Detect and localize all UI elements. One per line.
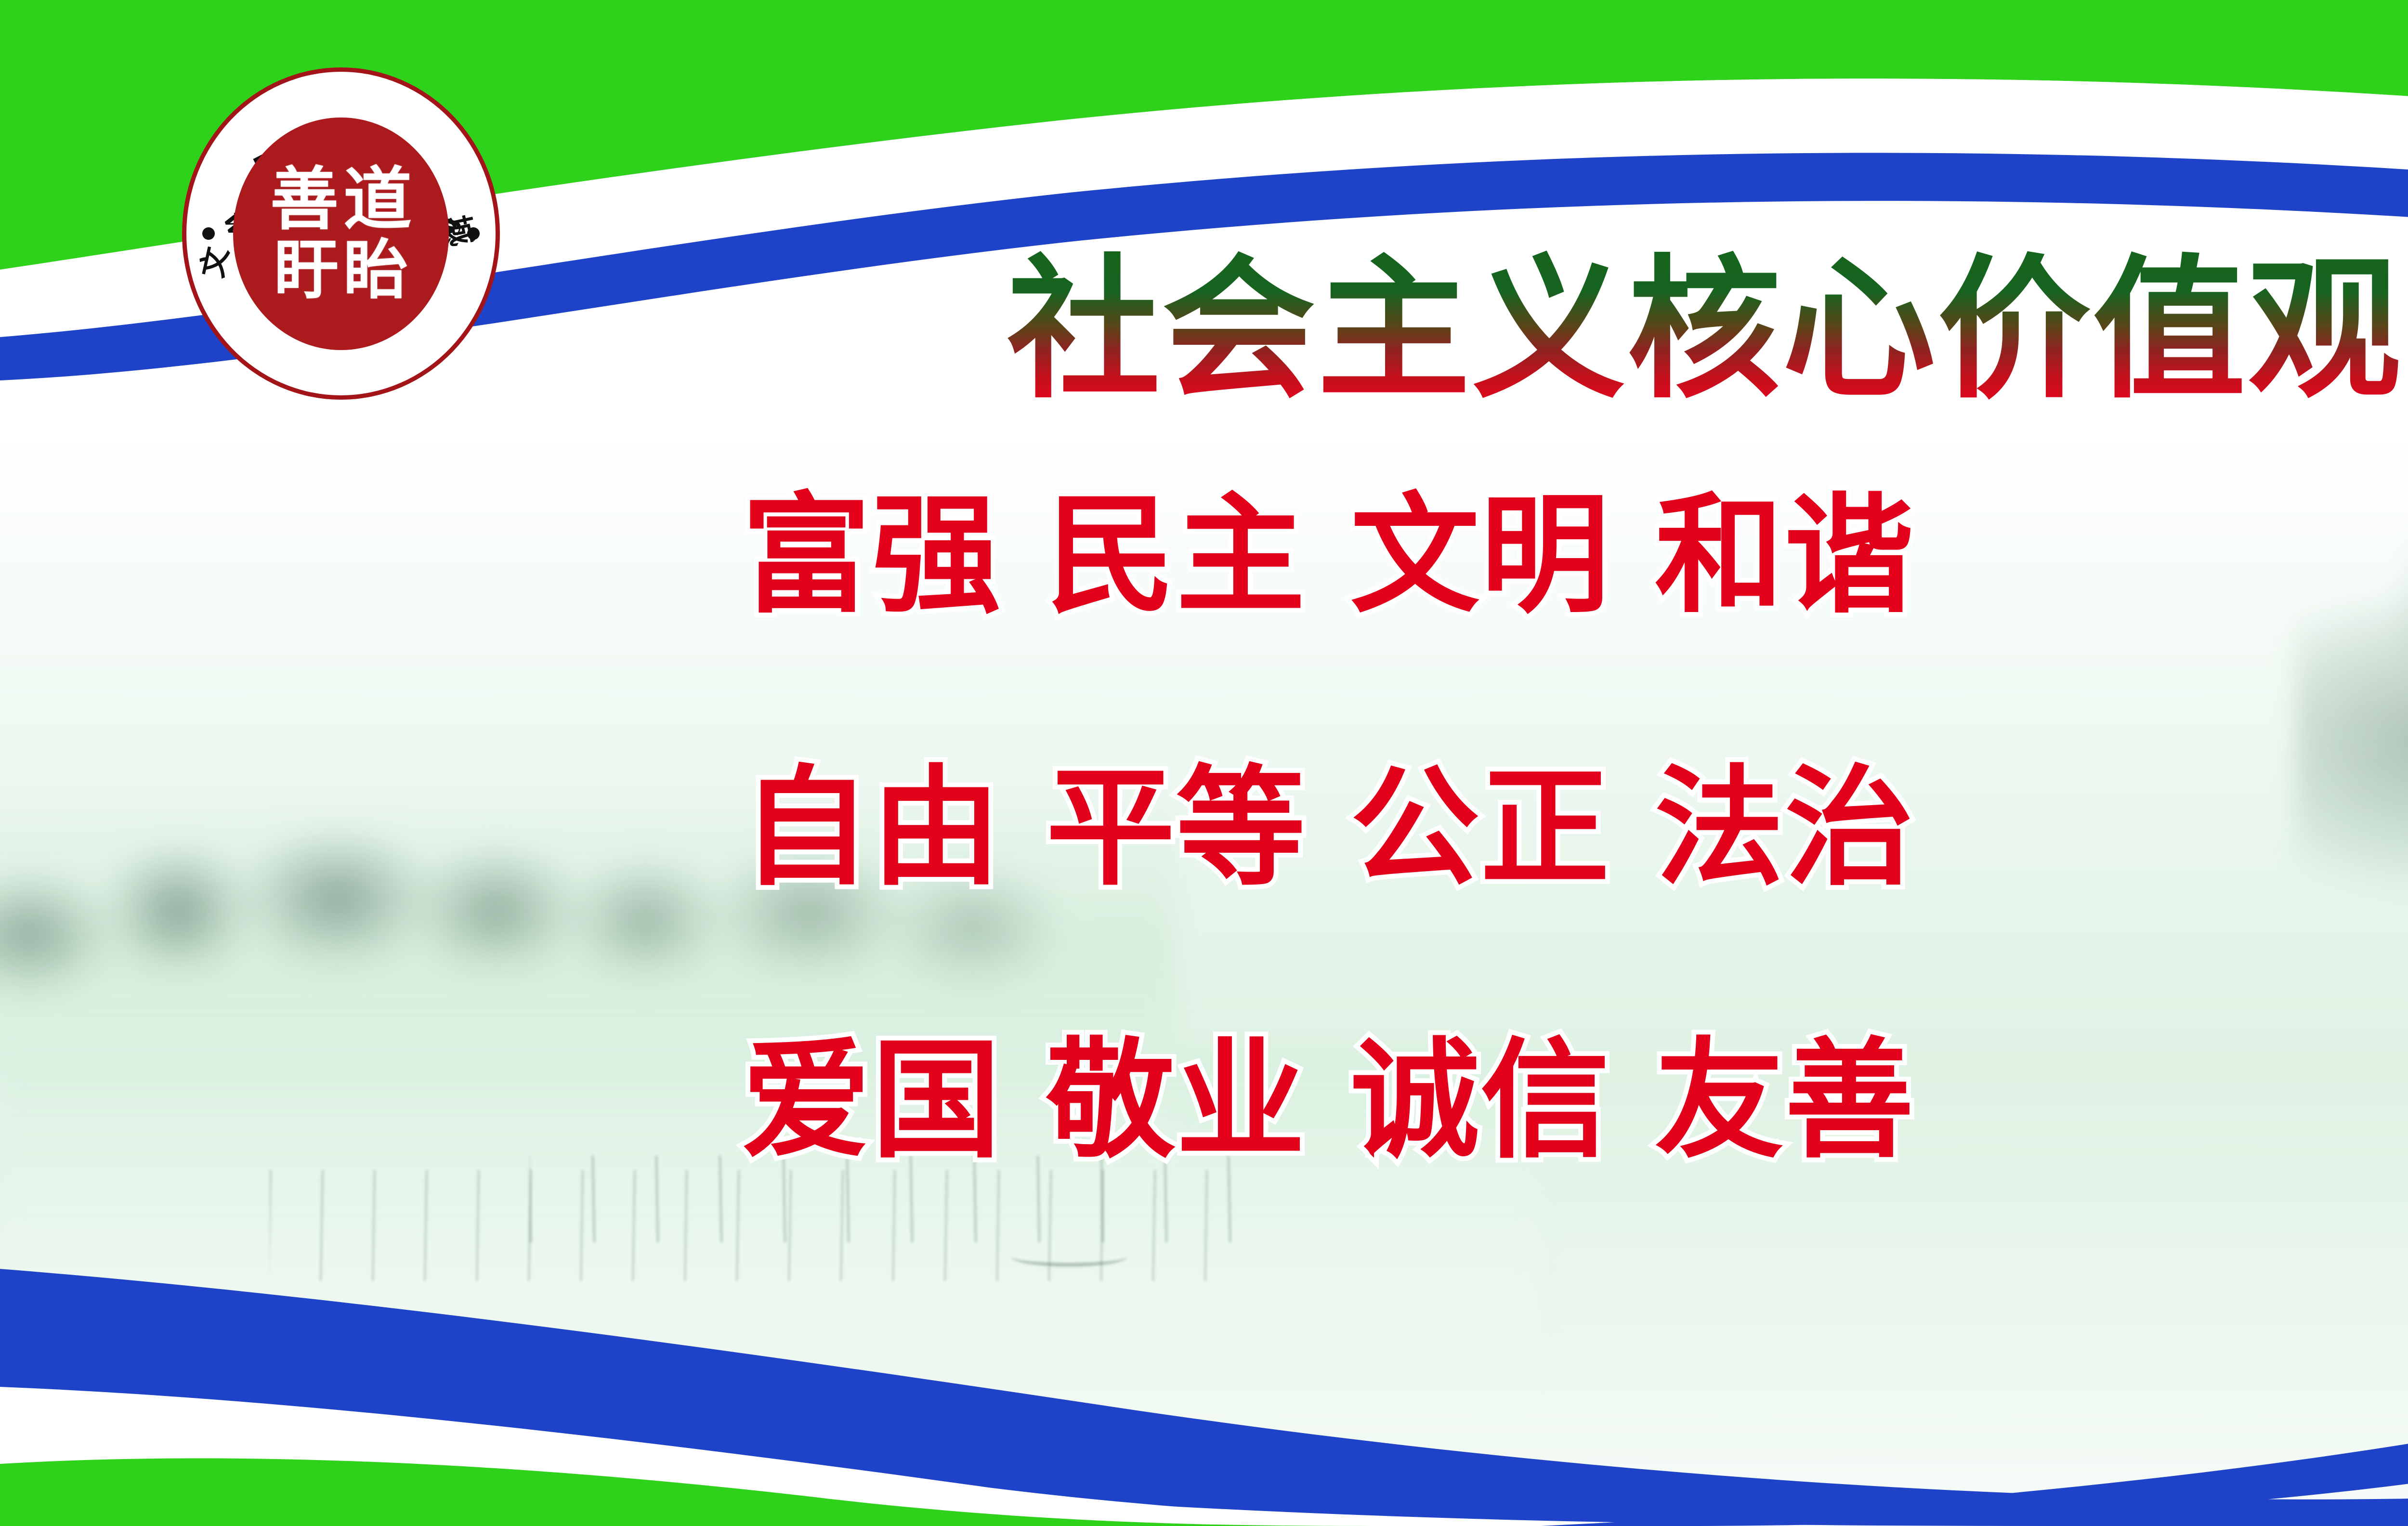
value-word: 富强 (742, 481, 1002, 631)
value-line-1: 富强民主文明和谐 (742, 486, 2408, 625)
emblem-center-top-row: 善 道 (270, 165, 412, 234)
page-title: 社会主义核心价值观 (848, 250, 2408, 409)
banner-poster: 文 明 之 城 wén míng zhī chéng 善 道 盱 眙 (0, 0, 2408, 1526)
value-word: 爱国 (742, 1026, 1002, 1176)
value-word: 文明 (1350, 481, 1610, 631)
emblem-char-shan: 善 (270, 165, 339, 234)
value-word: 自由 (742, 753, 1002, 903)
value-word: 法治 (1655, 753, 1915, 903)
emblem-char-xu: 盱 (274, 237, 339, 302)
value-word: 和谐 (1655, 481, 1915, 631)
value-word: 敬业 (1046, 1026, 1306, 1176)
value-line-2: 自由平等公正法治 (742, 759, 2408, 898)
emblem-center-bottom-row: 盱 眙 (274, 237, 408, 302)
emblem-char-dao: 道 (343, 165, 412, 234)
emblem-dot-left (202, 227, 215, 240)
emblem-char-yi: 眙 (343, 237, 408, 302)
emblem-inner-disc: 善 道 盱 眙 (233, 117, 449, 350)
value-word: 民主 (1046, 481, 1306, 631)
emblem-dot-right (467, 227, 480, 240)
value-word: 公正 (1350, 753, 1610, 903)
value-word: 友善 (1655, 1026, 1915, 1176)
value-word: 平等 (1046, 753, 1306, 903)
small-boat (1011, 1247, 1127, 1266)
emblem-center-text: 善 道 盱 眙 (233, 117, 449, 350)
city-emblem-logo: 文 明 之 城 wén míng zhī chéng 善 道 盱 眙 (182, 67, 500, 400)
value-word: 诚信 (1350, 1026, 1610, 1176)
value-line-3: 爱国敬业诚信友善 (742, 1031, 2408, 1170)
core-values-list: 富强民主文明和谐 自由平等公正法治 爱国敬业诚信友善 (742, 486, 2408, 1170)
